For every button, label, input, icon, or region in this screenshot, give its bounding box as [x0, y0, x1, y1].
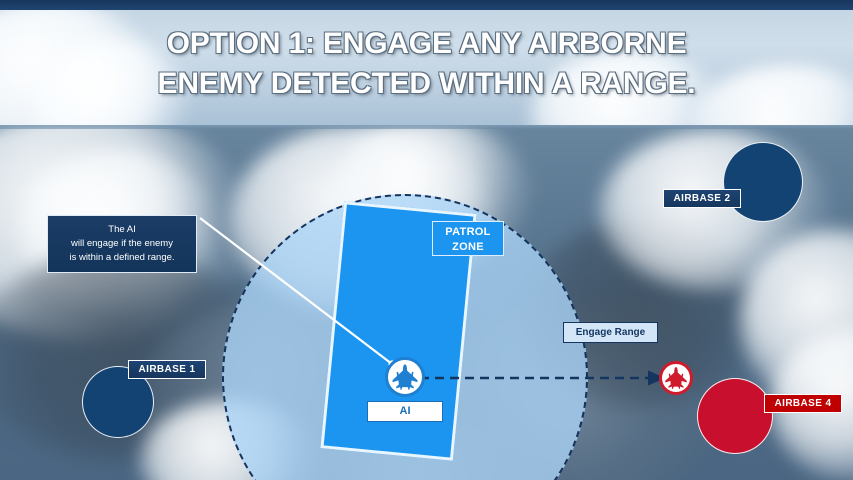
page-title-line-1: OPTION 1: ENGAGE ANY AIRBORNE	[0, 24, 853, 64]
callout-line-3: is within a defined range.	[48, 251, 196, 265]
page-title-line-2: ENEMY DETECTED WITHIN A RANGE.	[0, 64, 853, 104]
airbase-2-label: AIRBASE 2	[663, 189, 741, 208]
patrol-zone-label: PATROL ZONE	[432, 221, 504, 256]
red-fighter-jet-icon	[664, 366, 688, 390]
airbase-4-marker[interactable]	[697, 378, 773, 454]
callout-line-1: The AI	[48, 223, 196, 237]
slide-canvas: The AI will engage if the enemy is withi…	[0, 0, 853, 480]
ai-explanation-callout: The AI will engage if the enemy is withi…	[47, 215, 197, 273]
patrol-zone-label-line-2: ZONE	[433, 240, 503, 255]
airbase-4-label: AIRBASE 4	[764, 394, 842, 413]
ai-jet-icon[interactable]	[385, 357, 425, 397]
header-divider	[0, 125, 853, 129]
callout-line-2: will engage if the enemy	[48, 237, 196, 251]
airbase-2-marker[interactable]	[723, 142, 803, 222]
patrol-zone-label-line-1: PATROL	[433, 225, 503, 240]
top-accent-strip	[0, 0, 853, 10]
ai-label: AI	[367, 401, 443, 422]
airbase-1-label: AIRBASE 1	[128, 360, 206, 379]
blue-fighter-jet-icon	[391, 363, 419, 391]
enemy-jet-icon[interactable]	[659, 361, 693, 395]
page-title: OPTION 1: ENGAGE ANY AIRBORNE ENEMY DETE…	[0, 24, 853, 104]
engage-range-label: Engage Range	[563, 322, 658, 343]
